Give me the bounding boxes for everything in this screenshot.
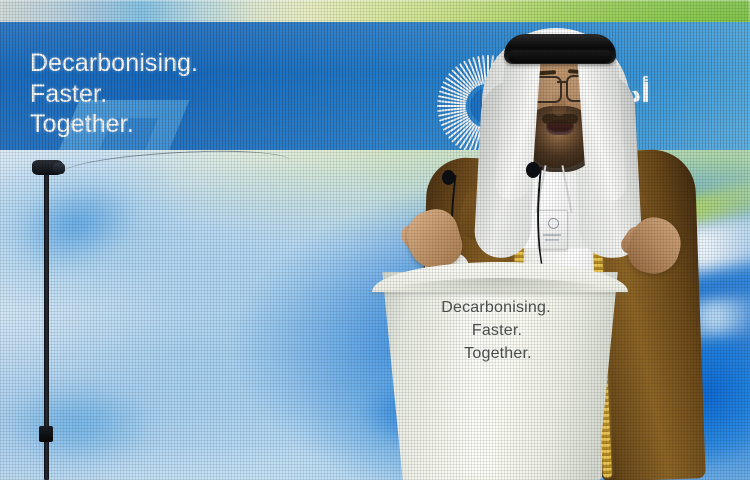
led-pixel-grid-overlay — [0, 0, 750, 480]
photo-scene: أدي EC Decarbonising. Faster. Together. — [0, 0, 750, 480]
